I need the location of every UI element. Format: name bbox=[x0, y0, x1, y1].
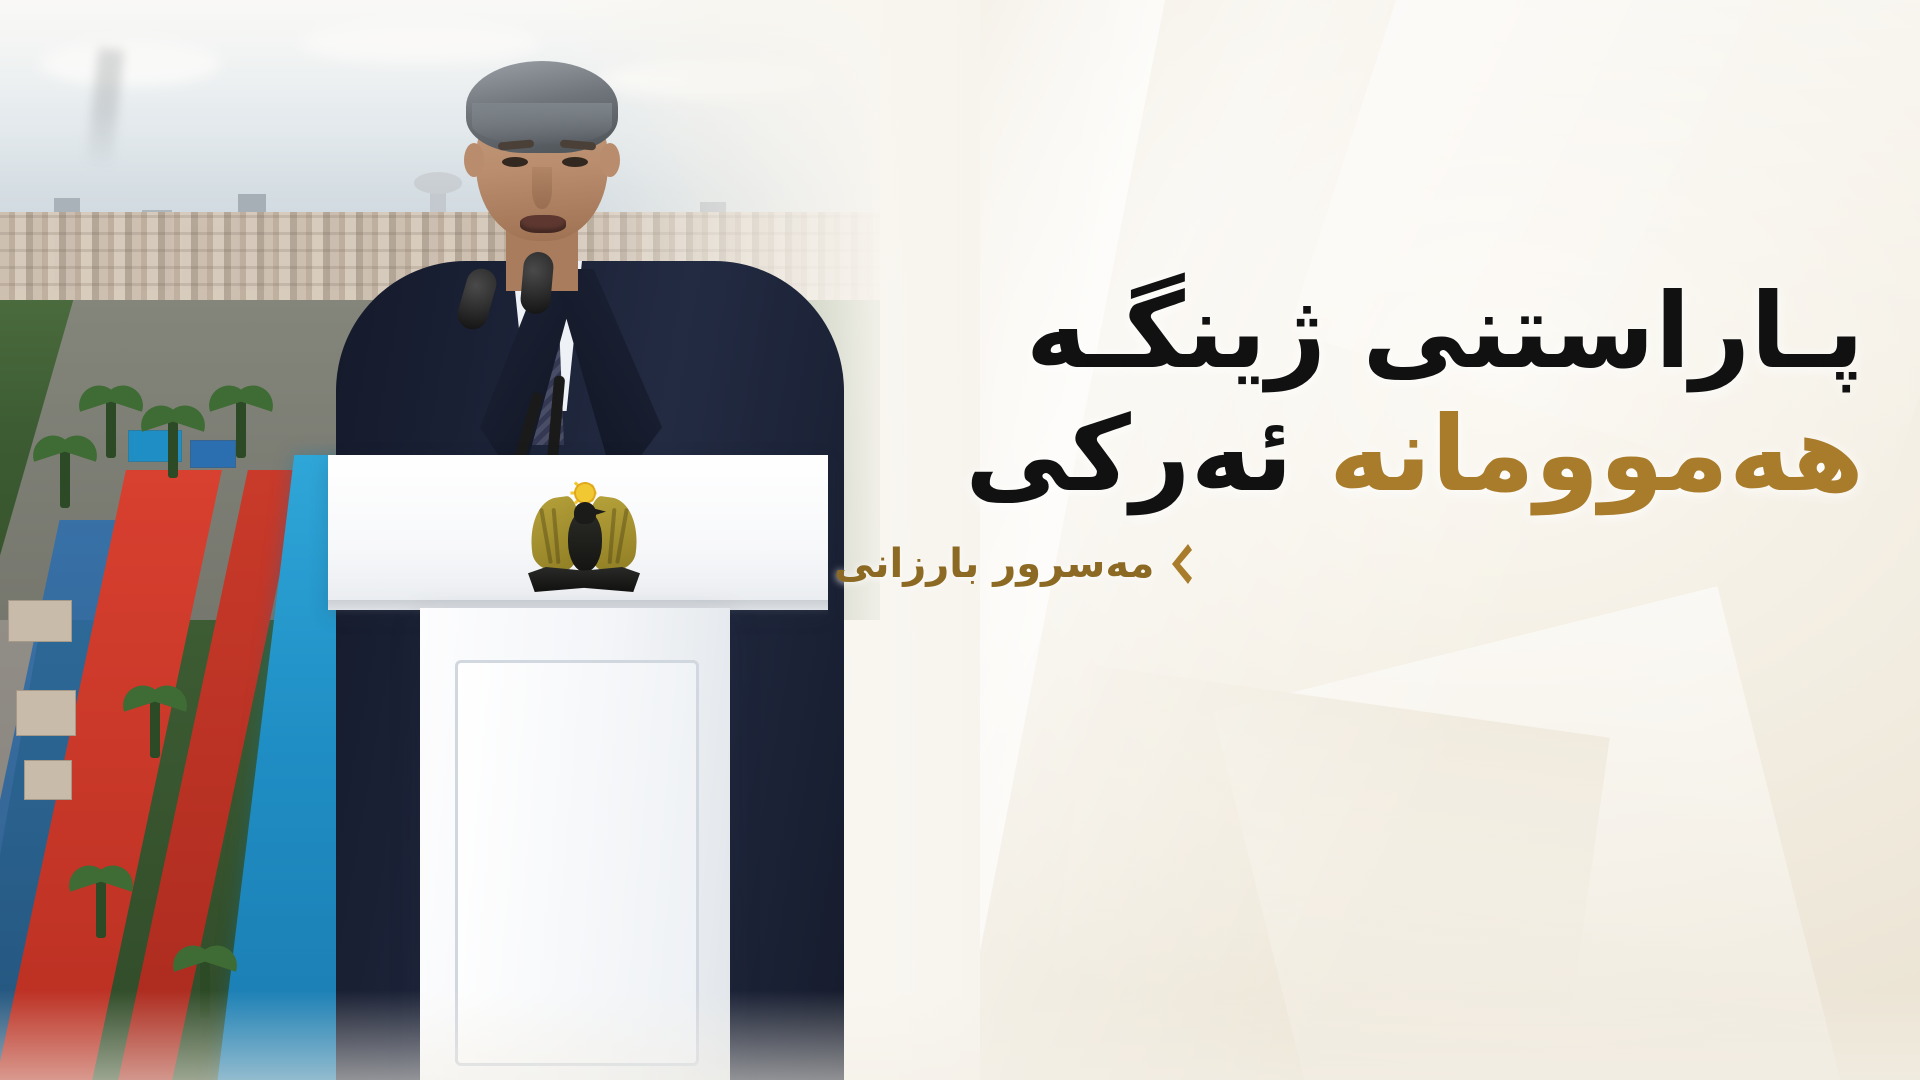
palm-tree bbox=[60, 450, 70, 508]
headline-line-2: هەموومانە ئەرکی bbox=[834, 393, 1864, 516]
building bbox=[8, 600, 72, 642]
headline-gold-phrase: هەموومانە bbox=[1329, 393, 1864, 515]
attribution-row: مەسرور بارزانی bbox=[834, 541, 1864, 587]
podium-front-panel bbox=[455, 660, 699, 1066]
ear bbox=[464, 143, 484, 177]
title-card-stage: پـاراستنی ژینگـە هەموومانە ئەرکی مەسرور … bbox=[0, 0, 1920, 1080]
kurdistan-region-emblem-icon bbox=[524, 482, 644, 594]
ear bbox=[600, 143, 620, 177]
headline-line-1: پـاراستنی ژینگـە bbox=[834, 270, 1864, 393]
palm-tree bbox=[236, 400, 246, 458]
speaker-name: مەسرور بارزانی bbox=[834, 541, 1154, 587]
sun-icon bbox=[576, 484, 594, 502]
chevron-left-icon bbox=[1168, 542, 1194, 586]
headline-black-phrase: ئەرکی bbox=[965, 393, 1293, 515]
nose bbox=[532, 167, 552, 209]
palm-tree bbox=[106, 400, 116, 458]
building bbox=[190, 440, 236, 468]
hair bbox=[466, 61, 618, 153]
headline-block: پـاراستنی ژینگـە هەموومانە ئەرکی مەسرور … bbox=[834, 270, 1864, 587]
palm-tree bbox=[168, 420, 178, 478]
building bbox=[24, 760, 72, 800]
palm-tree bbox=[150, 700, 160, 758]
palm-tree bbox=[200, 960, 210, 1018]
eye bbox=[502, 157, 528, 167]
building bbox=[16, 690, 76, 736]
palm-tree bbox=[96, 880, 106, 938]
mouth bbox=[520, 215, 566, 233]
eye bbox=[562, 157, 588, 167]
